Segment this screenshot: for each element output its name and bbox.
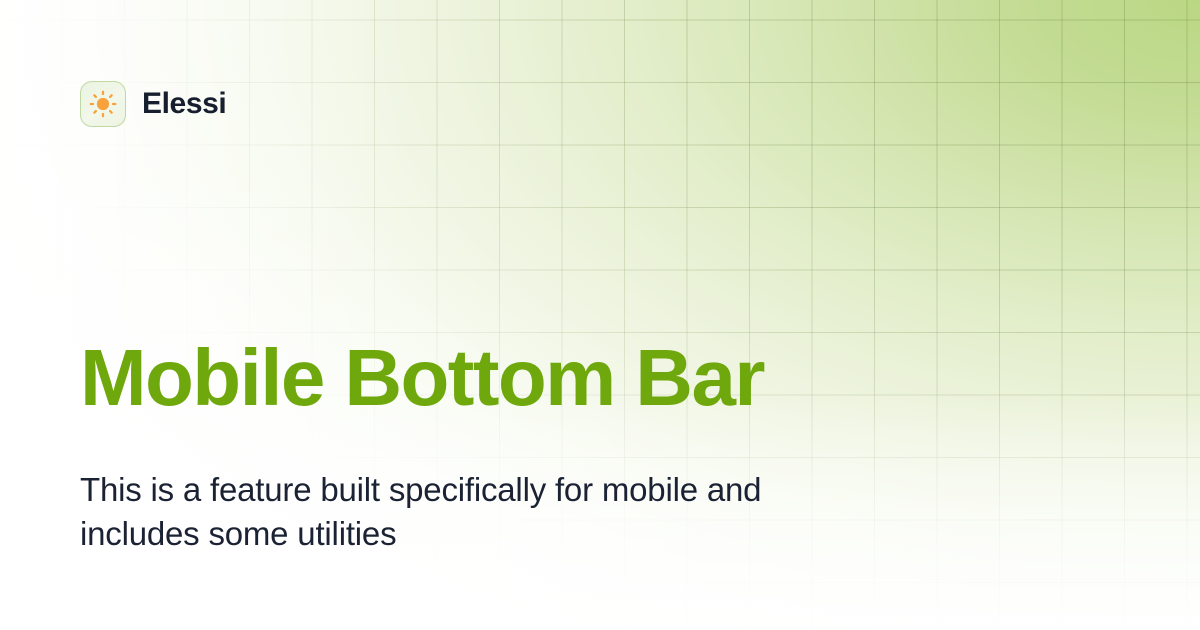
brand-lockup: Elessi: [80, 81, 226, 127]
sun-icon: [89, 90, 117, 118]
brand-name: Elessi: [142, 89, 226, 119]
card-content: Elessi Mobile Bottom Bar This is a featu…: [0, 0, 1200, 630]
page-title: Mobile Bottom Bar: [80, 336, 764, 421]
brand-logo-badge: [80, 81, 126, 127]
og-card: Elessi Mobile Bottom Bar This is a featu…: [0, 0, 1200, 630]
page-description: This is a feature built specifically for…: [80, 468, 880, 555]
